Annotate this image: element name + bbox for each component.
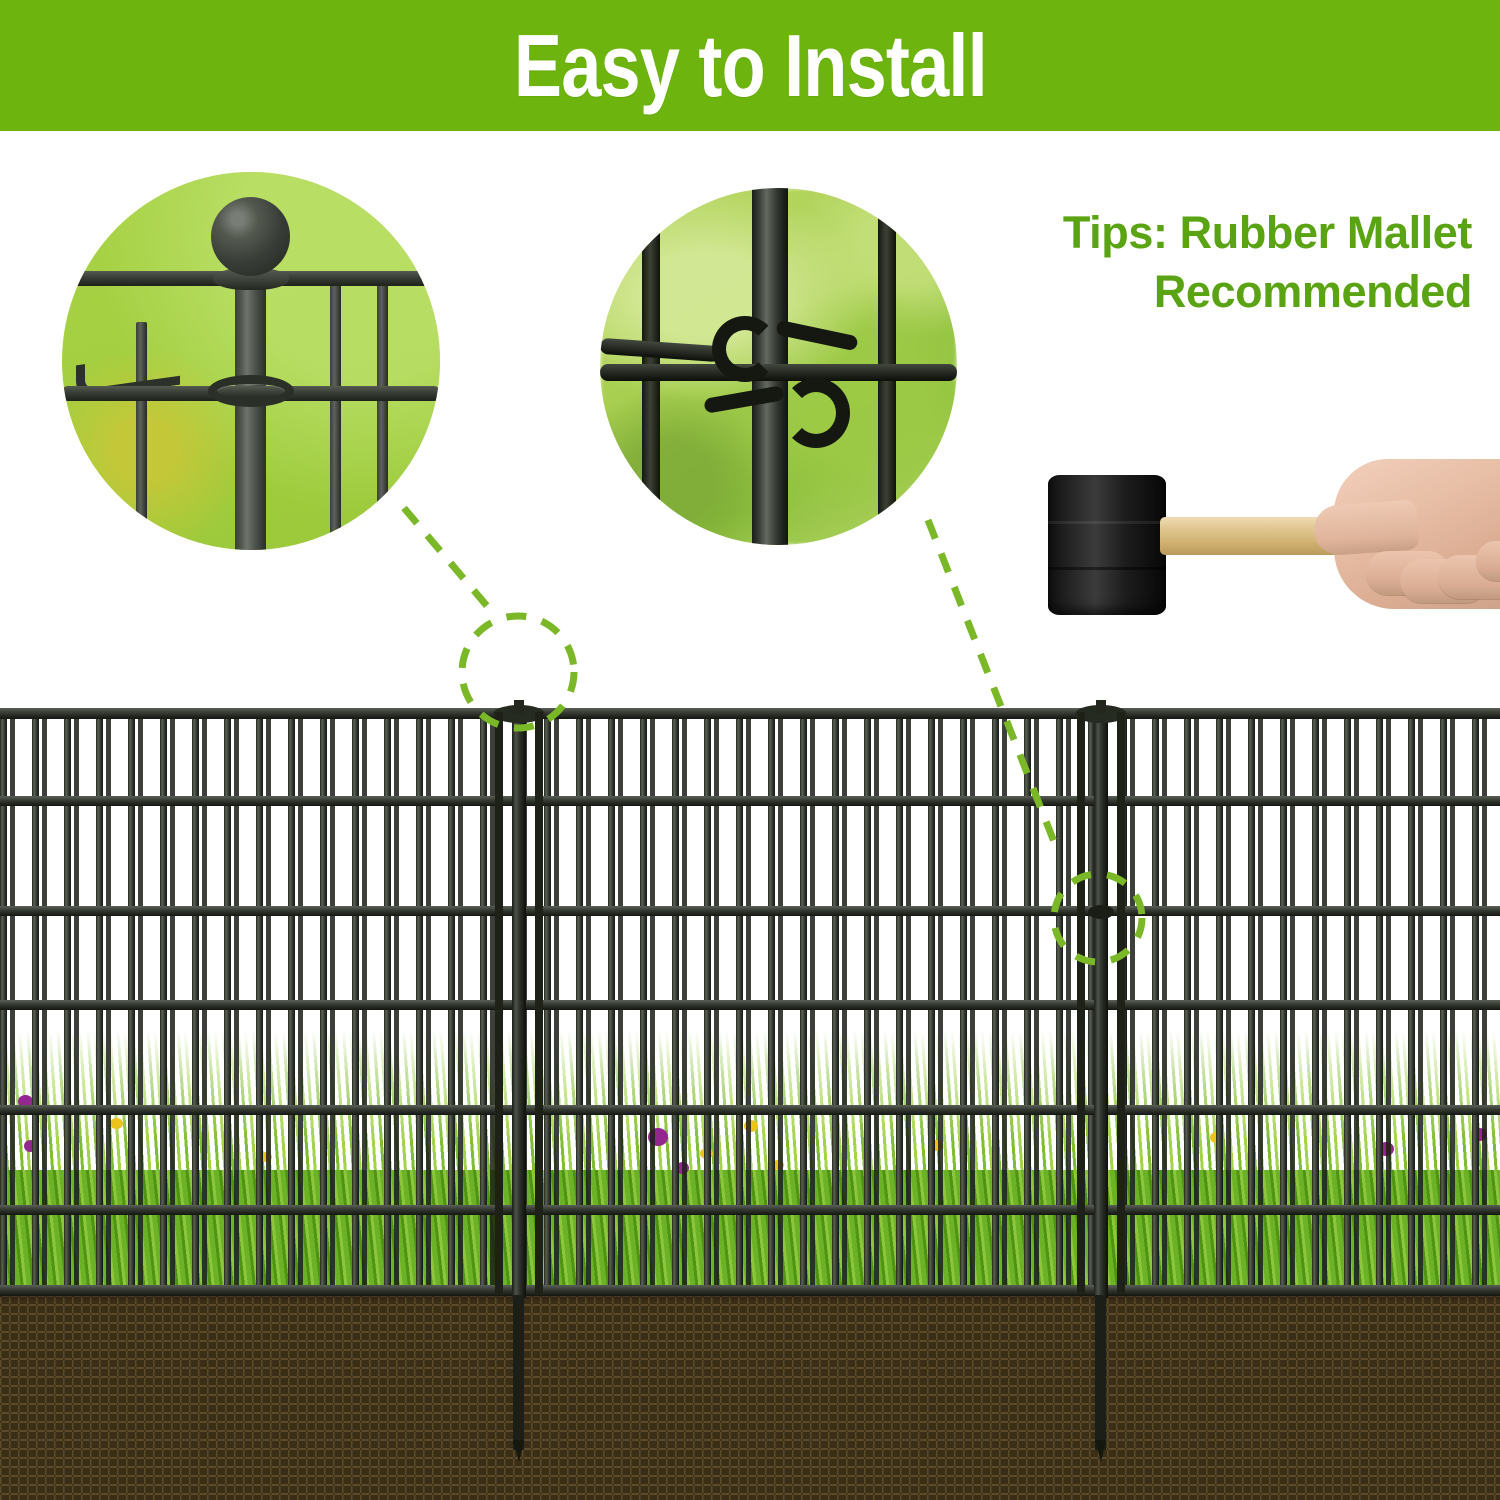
- fence-post: [235, 268, 266, 550]
- mallet-head: [1048, 475, 1166, 615]
- s-hook-upper-curl: [712, 316, 778, 382]
- detail-circle-s-hook: [600, 188, 957, 545]
- post-rail-loop: [208, 375, 294, 407]
- product-feature-image: Easy to Install Tips: Rubber Mallet Reco…: [0, 0, 1500, 1500]
- thumb: [1312, 499, 1419, 556]
- s-hook-joint: [1088, 905, 1114, 919]
- s-hook-lower-curl: [782, 378, 850, 448]
- fence-structure: [0, 700, 1500, 1500]
- fence-vertical-bar: [330, 276, 341, 550]
- post-ball-finial: [211, 197, 290, 276]
- fence-vertical-bar: [377, 276, 388, 550]
- tips-line-1: Tips: Rubber Mallet: [1063, 204, 1472, 263]
- hand-gripping-mallet: [1308, 455, 1500, 627]
- rubber-mallet-with-hand: [1040, 455, 1500, 635]
- header-banner: Easy to Install: [0, 0, 1500, 131]
- fence-rail: [600, 364, 957, 381]
- fence-scene: [0, 700, 1500, 1500]
- page-title: Easy to Install: [514, 22, 987, 110]
- detail-circle-post-cap: [62, 172, 440, 550]
- tips-text: Tips: Rubber Mallet Recommended: [1063, 204, 1472, 321]
- tips-line-2: Recommended: [1063, 263, 1472, 322]
- fence-horizontal-rails: [0, 708, 1500, 1296]
